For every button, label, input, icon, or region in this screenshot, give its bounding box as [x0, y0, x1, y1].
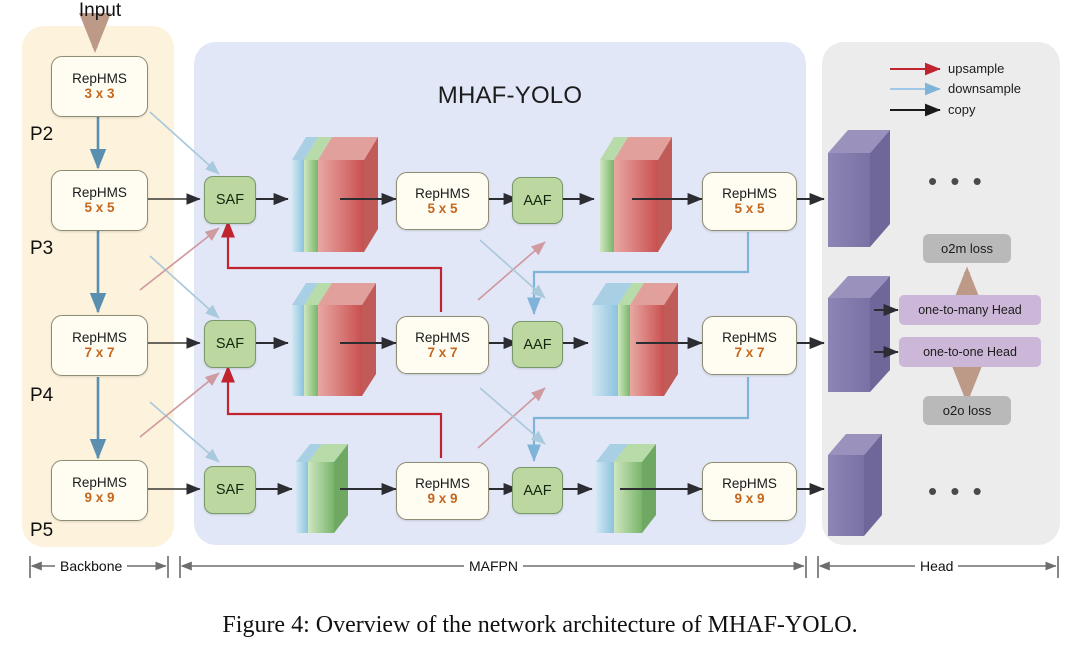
- module-kernel: 5 x 5: [84, 200, 114, 216]
- module-kernel: 9 x 9: [427, 491, 457, 507]
- one-to-one-head-box[interactable]: one-to-one Head: [899, 337, 1041, 367]
- module-label: RepHMS: [722, 186, 777, 201]
- module-label: RepHMS: [722, 330, 777, 345]
- mafpn-title: MHAF-YOLO: [390, 82, 630, 110]
- aaf-row2[interactable]: AAF: [512, 321, 563, 368]
- module-label: RepHMS: [415, 476, 470, 491]
- level-label-p3: P3: [30, 238, 53, 260]
- figure-canvas: Input MHAF-YOLO RepHMS 3 x 3 RepHMS 5 x …: [0, 0, 1080, 664]
- level-label-p5: P5: [30, 520, 53, 542]
- module-label: RepHMS: [72, 330, 127, 345]
- o2m-loss-box: o2m loss: [923, 234, 1011, 263]
- aaf-row1[interactable]: AAF: [512, 177, 563, 224]
- module-kernel: 9 x 9: [84, 490, 114, 506]
- backbone-rephms-p4[interactable]: RepHMS 7 x 7: [51, 315, 148, 376]
- legend-copy-label: copy: [948, 102, 975, 117]
- input-label: Input: [60, 0, 140, 22]
- module-label: RepHMS: [722, 476, 777, 491]
- mafpn-rephms-mid-row3[interactable]: RepHMS 9 x 9: [396, 462, 489, 520]
- mafpn-rephms-mid-row2[interactable]: RepHMS 7 x 7: [396, 316, 489, 374]
- module-kernel: 7 x 7: [84, 345, 114, 361]
- mafpn-rephms-out-row2[interactable]: RepHMS 7 x 7: [702, 316, 797, 375]
- module-kernel: 3 x 3: [84, 86, 114, 102]
- module-label: RepHMS: [415, 330, 470, 345]
- head-dots-bottom: • • •: [928, 486, 985, 496]
- module-label: RepHMS: [415, 186, 470, 201]
- mafpn-rephms-mid-row1[interactable]: RepHMS 5 x 5: [396, 172, 489, 230]
- module-kernel: 9 x 9: [734, 491, 764, 507]
- brace-label-mafpn: MAFPN: [464, 558, 523, 574]
- one-to-many-head-box[interactable]: one-to-many Head: [899, 295, 1041, 325]
- module-kernel: 5 x 5: [427, 201, 457, 217]
- saf-row2[interactable]: SAF: [204, 320, 256, 368]
- module-kernel: 7 x 7: [427, 345, 457, 361]
- level-label-p2: P2: [30, 124, 53, 146]
- brace-label-backbone: Backbone: [55, 558, 127, 574]
- mafpn-rephms-out-row3[interactable]: RepHMS 9 x 9: [702, 462, 797, 521]
- figure-caption: Figure 4: Overview of the network archit…: [0, 612, 1080, 639]
- module-label: RepHMS: [72, 185, 127, 200]
- backbone-rephms-p3[interactable]: RepHMS 5 x 5: [51, 170, 148, 231]
- module-kernel: 5 x 5: [734, 201, 764, 217]
- mafpn-rephms-out-row1[interactable]: RepHMS 5 x 5: [702, 172, 797, 231]
- backbone-rephms-p2[interactable]: RepHMS 3 x 3: [51, 56, 148, 117]
- aaf-row3[interactable]: AAF: [512, 467, 563, 514]
- brace-label-head: Head: [915, 558, 958, 574]
- module-label: RepHMS: [72, 475, 127, 490]
- legend-upsample-label: upsample: [948, 61, 1004, 76]
- o2o-loss-box: o2o loss: [923, 396, 1011, 425]
- saf-row3[interactable]: SAF: [204, 466, 256, 514]
- saf-row1[interactable]: SAF: [204, 176, 256, 224]
- head-panel: [822, 42, 1060, 545]
- level-label-p4: P4: [30, 385, 53, 407]
- head-dots-top: • • •: [928, 176, 985, 186]
- backbone-rephms-p5[interactable]: RepHMS 9 x 9: [51, 460, 148, 521]
- module-kernel: 7 x 7: [734, 345, 764, 361]
- module-label: RepHMS: [72, 71, 127, 86]
- legend-downsample-label: downsample: [948, 81, 1021, 96]
